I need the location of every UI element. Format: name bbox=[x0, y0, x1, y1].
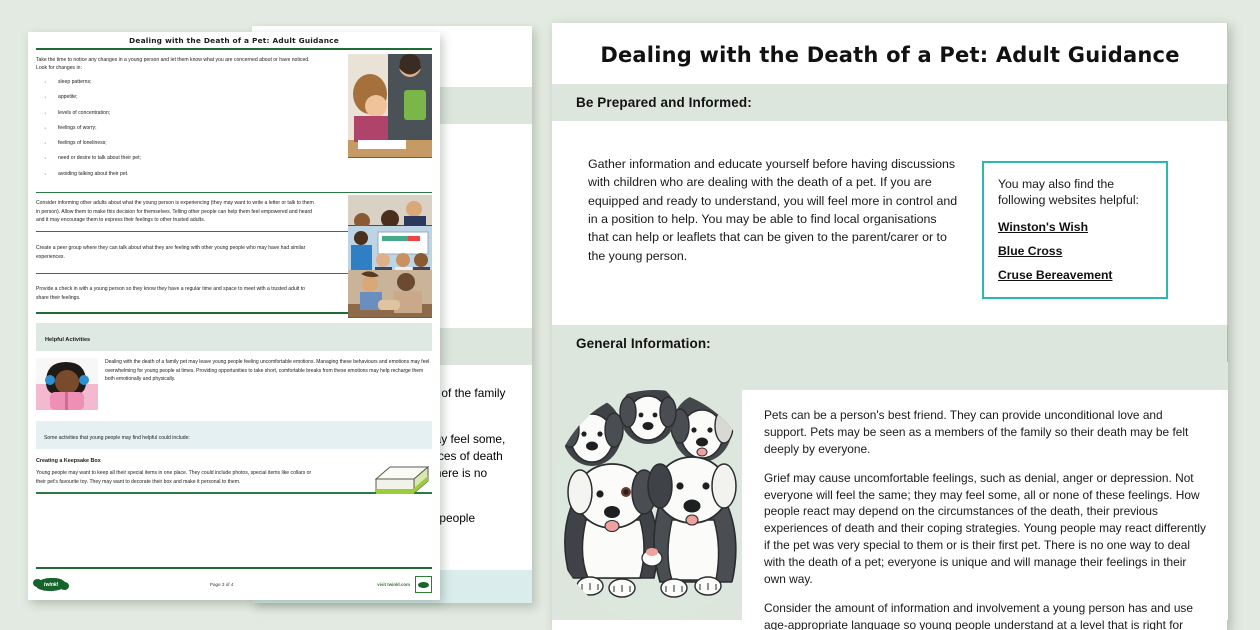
sheepdog-puppies-illustration bbox=[556, 380, 752, 620]
peer-group-block: Create a peer group where they can talk … bbox=[36, 232, 432, 267]
inform-adults-text: Consider informing other adults about wh… bbox=[36, 199, 314, 225]
visit-twinkl-link[interactable]: visit twinkl.com bbox=[377, 582, 410, 587]
keepsake-box-illustration bbox=[370, 461, 432, 501]
photo-girl-with-headphones bbox=[36, 358, 98, 410]
helpful-activities-heading: Helpful Activities bbox=[45, 337, 90, 343]
section-band-general-information: General Information: bbox=[552, 325, 1228, 362]
preview-stack: Dealing with the Death of a Pet: Adult G… bbox=[0, 0, 545, 630]
section-heading-general-information: General Information: bbox=[576, 336, 1204, 351]
section-band-be-prepared: Be Prepared and Informed: bbox=[552, 84, 1228, 121]
websites-box: You may also find the following websites… bbox=[982, 161, 1168, 299]
websites-box-intro: You may also find the following websites… bbox=[998, 176, 1152, 209]
photo-two-people-talking bbox=[348, 270, 432, 318]
be-prepared-area: Gather information and educate yourself … bbox=[552, 121, 1228, 325]
preview-body: Take the time to notice any changes in a… bbox=[28, 50, 440, 494]
keepsake-block: Young people may want to keep all their … bbox=[36, 469, 432, 493]
section-heading-be-prepared: Be Prepared and Informed: bbox=[576, 95, 1204, 110]
general-paragraph-3: Consider the amount of information and i… bbox=[764, 600, 1206, 630]
check-in-text: Provide a check in with a young person s… bbox=[36, 285, 314, 303]
certificate-badge-icon bbox=[415, 576, 432, 593]
photo-adult-and-child-writing bbox=[348, 54, 432, 158]
helpful-activities-row: Dealing with the death of a family pet m… bbox=[36, 351, 432, 415]
page-number: Page 3 of 4 bbox=[210, 582, 234, 587]
helpful-activities-header: Helpful Activities bbox=[36, 323, 432, 351]
general-information-area: Pets can be a person's best friend. They… bbox=[552, 362, 1228, 620]
activities-band-text: Some activities that young people may fi… bbox=[44, 435, 190, 441]
preview-footer: twinkl Page 3 of 4 visit twinkl.com bbox=[28, 567, 440, 600]
be-prepared-text-column: Gather information and educate yourself … bbox=[588, 155, 960, 299]
general-paragraph-2: Grief may cause uncomfortable feelings, … bbox=[764, 470, 1206, 588]
preview-header-title: Dealing with the Death of a Pet: Adult G… bbox=[28, 32, 440, 48]
general-paragraph-1: Pets can be a person's best friend. They… bbox=[764, 407, 1206, 458]
be-prepared-paragraph: Gather information and educate yourself … bbox=[588, 155, 960, 265]
general-information-text: Pets can be a person's best friend. They… bbox=[742, 390, 1228, 620]
peer-group-text: Create a peer group where they can talk … bbox=[36, 244, 314, 262]
twinkl-logo-icon[interactable]: twinkl bbox=[36, 578, 66, 591]
page-title: Dealing with the Death of a Pet: Adult G… bbox=[552, 23, 1228, 84]
link-winstons-wish[interactable]: Winston's Wish bbox=[998, 220, 1152, 234]
check-in-block: Provide a check in with a young person s… bbox=[36, 274, 432, 313]
link-cruse-bereavement[interactable]: Cruse Bereavement bbox=[998, 268, 1152, 282]
changes-intro: Take the time to notice any changes in a… bbox=[36, 56, 314, 74]
main-document-page[interactable]: Dealing with the Death of a Pet: Adult G… bbox=[552, 23, 1228, 630]
inform-adults-block: Consider informing other adults about wh… bbox=[36, 193, 432, 230]
front-page-preview[interactable]: Dealing with the Death of a Pet: Adult G… bbox=[28, 32, 440, 600]
keepsake-text: Young people may want to keep all their … bbox=[36, 469, 314, 487]
helpful-activities-intro: Dealing with the death of a family pet m… bbox=[105, 358, 432, 384]
list-item: avoiding talking about their pet. bbox=[36, 170, 432, 179]
link-blue-cross[interactable]: Blue Cross bbox=[998, 244, 1152, 258]
changes-block: Take the time to notice any changes in a… bbox=[36, 50, 432, 190]
activities-band: Some activities that young people may fi… bbox=[36, 421, 432, 449]
